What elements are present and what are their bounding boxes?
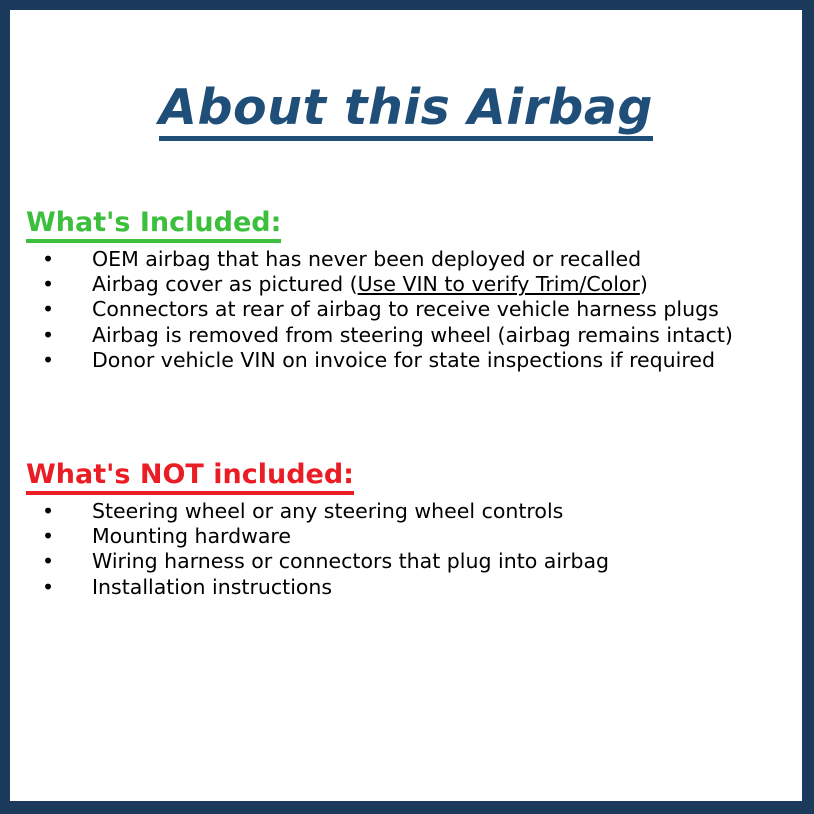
text-run: ): [640, 272, 648, 296]
section-not-included: What's NOT included: •Steering wheel or …: [26, 459, 786, 600]
list-item-label: Airbag is removed from steering wheel (a…: [92, 323, 733, 347]
bullet-icon: •: [42, 297, 54, 322]
card-content: About this Airbag What's Included: •OEM …: [10, 10, 802, 801]
list-item: •Mounting hardware: [26, 524, 786, 549]
underlined-note: Use VIN to verify Trim/Color: [358, 272, 640, 296]
bullet-icon: •: [42, 575, 54, 600]
section-included: What's Included: •OEM airbag that has ne…: [26, 207, 786, 373]
bullet-icon: •: [42, 272, 54, 297]
list-item-label: Connectors at rear of airbag to receive …: [92, 297, 719, 321]
info-card: About this Airbag What's Included: •OEM …: [0, 0, 814, 814]
text-run: Airbag is removed from steering wheel (a…: [92, 323, 733, 347]
text-run: Wiring harness or connectors that plug i…: [92, 549, 609, 573]
page-title: About this Airbag: [159, 82, 653, 141]
bullet-icon: •: [42, 247, 54, 272]
text-run: OEM airbag that has never been deployed …: [92, 247, 641, 271]
list-item: •Airbag is removed from steering wheel (…: [26, 323, 786, 348]
included-list: •OEM airbag that has never been deployed…: [26, 247, 786, 373]
text-run: Connectors at rear of airbag to receive …: [92, 297, 719, 321]
list-item-label: OEM airbag that has never been deployed …: [92, 247, 641, 271]
bullet-icon: •: [42, 549, 54, 574]
list-item-label: Steering wheel or any steering wheel con…: [92, 499, 563, 523]
section-heading-included: What's Included:: [26, 207, 281, 243]
text-run: Donor vehicle VIN on invoice for state i…: [92, 348, 715, 372]
bullet-icon: •: [42, 524, 54, 549]
list-item: •Installation instructions: [26, 575, 786, 600]
text-run: Installation instructions: [92, 575, 332, 599]
text-run: Steering wheel or any steering wheel con…: [92, 499, 563, 523]
not-included-list: •Steering wheel or any steering wheel co…: [26, 499, 786, 600]
list-item: •Steering wheel or any steering wheel co…: [26, 499, 786, 524]
section-heading-not-included: What's NOT included:: [26, 459, 354, 495]
page-title-container: About this Airbag: [10, 82, 802, 141]
list-item-label: Donor vehicle VIN on invoice for state i…: [92, 348, 715, 372]
bullet-icon: •: [42, 323, 54, 348]
list-item: •Donor vehicle VIN on invoice for state …: [26, 348, 786, 373]
list-item: •OEM airbag that has never been deployed…: [26, 247, 786, 272]
list-item-label: Wiring harness or connectors that plug i…: [92, 549, 609, 573]
list-item-label: Installation instructions: [92, 575, 332, 599]
list-item-label: Airbag cover as pictured (Use VIN to ver…: [92, 272, 648, 296]
bullet-icon: •: [42, 499, 54, 524]
bullet-icon: •: [42, 348, 54, 373]
list-item: •Airbag cover as pictured (Use VIN to ve…: [26, 272, 786, 297]
list-item-label: Mounting hardware: [92, 524, 291, 548]
text-run: Mounting hardware: [92, 524, 291, 548]
list-item: •Connectors at rear of airbag to receive…: [26, 297, 786, 322]
list-item: •Wiring harness or connectors that plug …: [26, 549, 786, 574]
text-run: Airbag cover as pictured (: [92, 272, 358, 296]
